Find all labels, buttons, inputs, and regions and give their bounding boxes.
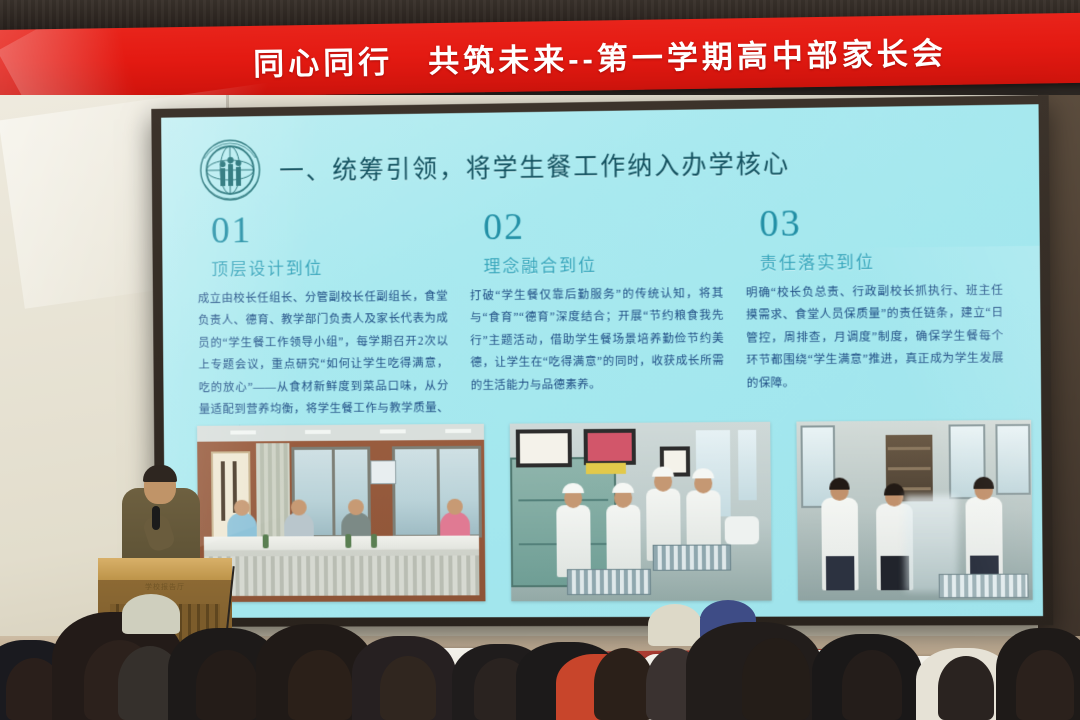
column-subtitle: 责任落实到位: [760, 246, 1004, 274]
projection-screen-frame: 一、统筹引领，将学生餐工作纳入办学核心 01 顶层设计到位 成立由校长任组长、分…: [151, 95, 1053, 627]
audience-member: [1016, 650, 1074, 720]
audience-member: [742, 638, 810, 720]
audience-member: [288, 650, 352, 720]
column-subtitle: 理念融合到位: [483, 250, 723, 278]
audience-white-cap-icon: [648, 604, 702, 646]
slide-title: 一、统筹引领，将学生餐工作纳入办学核心: [279, 144, 790, 187]
column-subtitle: 顶层设计到位: [211, 253, 448, 281]
slide-header: 一、统筹引领，将学生餐工作纳入办学核心: [185, 123, 1015, 207]
presentation-photo-scene: 同心同行 共筑未来--第一学期高中部家长会: [0, 0, 1080, 720]
slide-column-3: 03 责任落实到位 明确“校长负总责、行政副校长抓执行、班主任摸需求、食堂人员保…: [745, 202, 1005, 440]
column-body-text: 打破“学生餐仅靠后勤服务”的传统认知，将其与“食育”“德育”深度结合；开展“节约…: [470, 283, 725, 397]
projection-screen: 一、统筹引领，将学生餐工作纳入办学核心 01 顶层设计到位 成立由校长任组长、分…: [161, 104, 1043, 618]
audience-member: [594, 648, 654, 720]
slide-column-1: 01 顶层设计到位 成立由校长任组长、分管副校长任副组长，食堂负责人、德育、教学…: [197, 209, 449, 444]
column-number: 01: [197, 209, 448, 250]
audience-member: [842, 650, 902, 720]
slide-column-2: 02 理念融合到位 打破“学生餐仅靠后勤服务”的传统认知，将其与“食育”“德育”…: [469, 205, 725, 441]
audience-cap-icon: [122, 594, 180, 634]
audience-member: [380, 656, 436, 720]
audience-member: [938, 656, 994, 720]
column-number: 02: [469, 205, 723, 246]
column-body-text: 明确“校长负总责、行政副校长抓执行、班主任摸需求、食堂人员保质量”的责任链条，建…: [746, 280, 1005, 395]
microphone-icon: [152, 506, 160, 530]
school-emblem-icon: [198, 138, 261, 202]
audience-row: [0, 560, 1080, 720]
column-body-text: 成立由校长任组长、分管副校长任副组长，食堂负责人、德育、教学部门负责人及家长代表…: [198, 286, 450, 444]
column-number: 03: [745, 202, 1003, 243]
slide-content: 一、统筹引领，将学生餐工作纳入办学核心 01 顶层设计到位 成立由校长任组长、分…: [161, 104, 1043, 618]
audience-member: [196, 650, 258, 720]
slide-columns: 01 顶层设计到位 成立由校长任组长、分管副校长任副组长，食堂负责人、德育、教学…: [185, 202, 1017, 444]
